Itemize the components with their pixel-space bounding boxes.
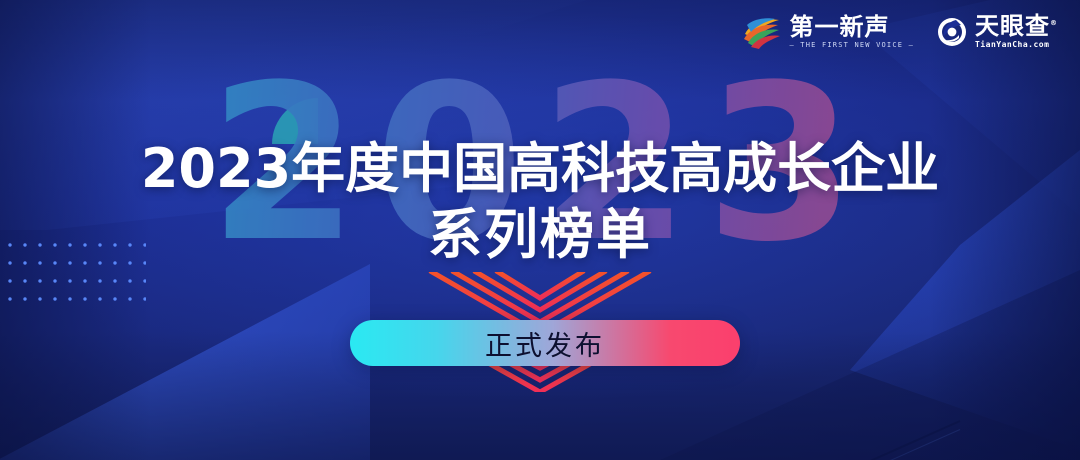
logo-tianyancha-name-cn: 天眼查 bbox=[975, 12, 1050, 40]
title-line-2: 系列榜单 bbox=[0, 202, 1080, 268]
title-line-1: 2023年度中国高科技高成长企业 bbox=[0, 136, 1080, 202]
logo-diyixinsheng-name: 第一新声 bbox=[789, 15, 914, 39]
logo-bar: 第一新声 — THE FIRST NEW VOICE — 天眼查® TianYa… bbox=[742, 14, 1058, 49]
banner-title: 2023年度中国高科技高成长企业 系列榜单 bbox=[0, 136, 1080, 268]
logo-diyixinsheng[interactable]: 第一新声 — THE FIRST NEW VOICE — bbox=[742, 15, 914, 49]
logo-diyixinsheng-tagline: — THE FIRST NEW VOICE — bbox=[789, 42, 914, 49]
registered-trademark-icon: ® bbox=[1050, 19, 1058, 27]
logo-tianyancha-text: 天眼查® TianYanCha.com bbox=[975, 14, 1058, 49]
logo-tianyancha-tagline: TianYanCha.com bbox=[975, 41, 1058, 49]
ribbon-logo-icon bbox=[742, 15, 782, 49]
logo-diyixinsheng-text: 第一新声 — THE FIRST NEW VOICE — bbox=[789, 15, 914, 49]
promo-banner: 2023 2023年度中国高科技高成长企业 系列榜单 bbox=[0, 0, 1080, 460]
release-status-pill[interactable]: 正式发布 bbox=[350, 320, 740, 366]
logo-tianyancha[interactable]: 天眼查® TianYanCha.com bbox=[936, 14, 1058, 49]
eye-lens-logo-icon bbox=[936, 16, 968, 48]
logo-tianyancha-name: 天眼查® bbox=[975, 14, 1058, 38]
release-status-label: 正式发布 bbox=[485, 324, 605, 363]
